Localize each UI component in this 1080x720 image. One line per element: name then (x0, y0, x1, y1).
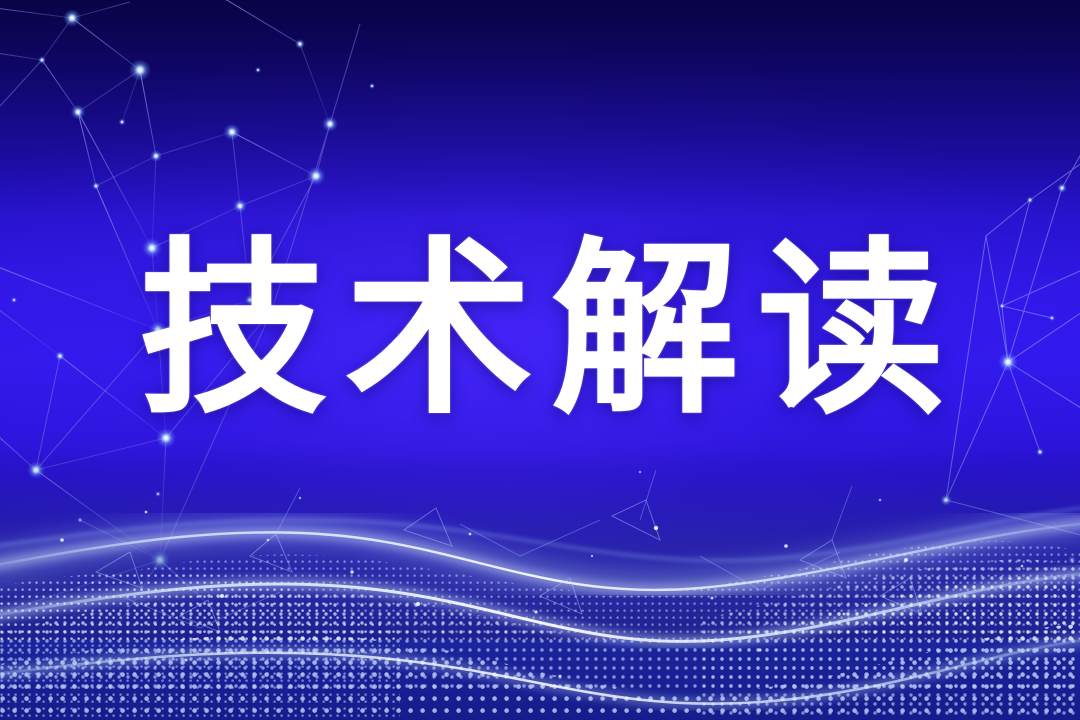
title-container: 技术解读 (0, 0, 1080, 720)
page-title: 技术解读 (121, 237, 963, 425)
tech-banner: 技术解读 (0, 0, 1080, 720)
